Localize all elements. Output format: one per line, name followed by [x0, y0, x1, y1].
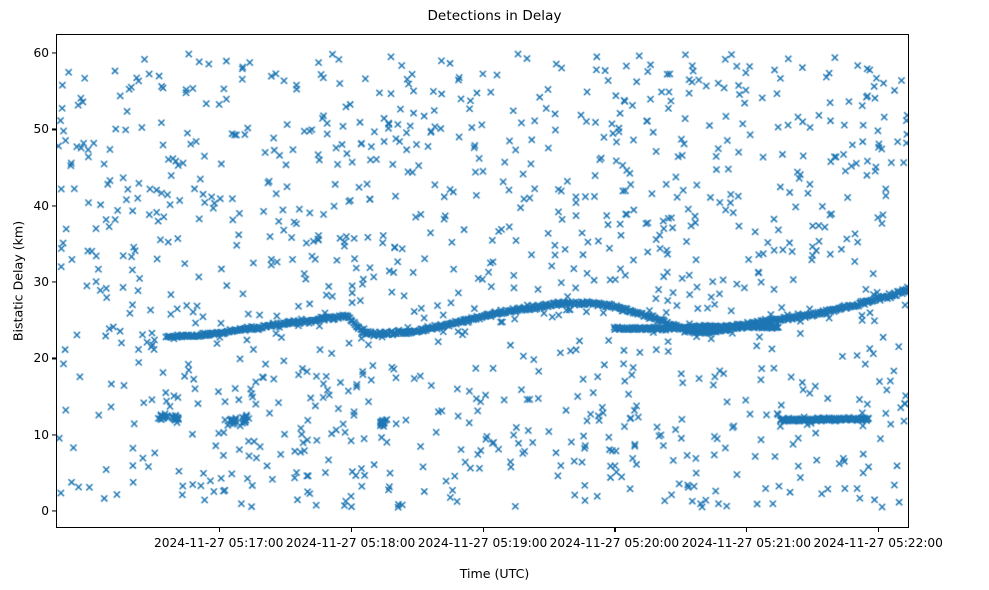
y-tick-label: 10: [33, 428, 49, 442]
x-tick-label: 2024-11-27 05:20:00: [550, 536, 679, 550]
x-tick-label: 2024-11-27 05:21:00: [682, 536, 811, 550]
x-tick-mark: [483, 528, 484, 532]
x-tick-mark: [351, 528, 352, 532]
y-tick-label: 30: [33, 275, 49, 289]
x-tick-mark: [219, 528, 220, 532]
x-tick-mark: [878, 528, 879, 532]
y-tick-label: 0: [41, 504, 49, 518]
x-tick-label: 2024-11-27 05:19:00: [418, 536, 547, 550]
y-tick-label: 60: [33, 46, 49, 60]
plot-area: [56, 34, 909, 528]
y-tick-label: 50: [33, 122, 49, 136]
x-tick-label: 2024-11-27 05:18:00: [286, 536, 415, 550]
scatter-canvas: [57, 35, 908, 527]
x-axis-label: Time (UTC): [0, 566, 989, 581]
x-tick-label: 2024-11-27 05:22:00: [813, 536, 942, 550]
x-tick-label: 2024-11-27 05:17:00: [154, 536, 283, 550]
matplotlib-figure: Detections in Delay Bistatic Delay (km) …: [0, 0, 989, 590]
x-tick-mark: [614, 528, 615, 532]
y-tick-label: 40: [33, 199, 49, 213]
x-tick-mark: [746, 528, 747, 532]
y-tick-label: 20: [33, 351, 49, 365]
